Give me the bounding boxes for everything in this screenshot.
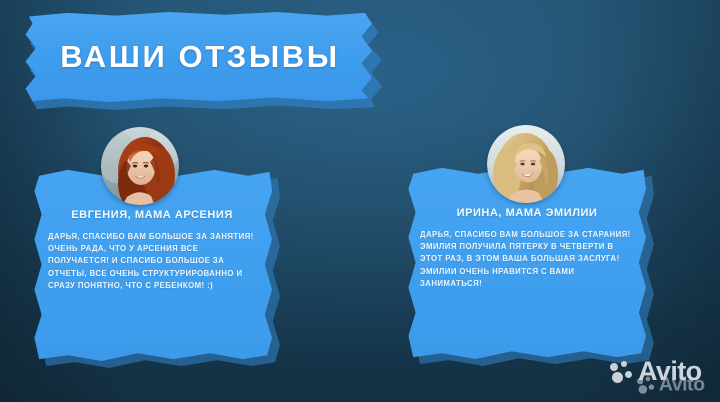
testimonial-text: ДАРЬЯ, СПАСИБО ВАМ БОЛЬШОЕ ЗА ЗАНЯТИЯ! О… bbox=[48, 231, 256, 292]
avito-watermark-secondary: Avito bbox=[637, 375, 705, 395]
testimonial-author: ЕВГЕНИЯ, МАМА АРСЕНИЯ bbox=[48, 208, 256, 222]
page-title: ВАШИ ОТЗЫВЫ bbox=[22, 12, 372, 102]
avito-wordmark: Avito bbox=[659, 375, 705, 395]
testimonials-slide: ВАШИ ОТЗЫВЫ ЕВГЕНИЯ, МАМА АРСЕНИЯ ДАРЬЯ,… bbox=[0, 0, 720, 402]
avito-logo-icon bbox=[637, 376, 657, 393]
avatar-evgeniya bbox=[101, 127, 179, 205]
testimonial-author: ИРИНА, МАМА ЭМИЛИИ bbox=[420, 206, 634, 220]
testimonial-text: ДАРЬЯ, СПАСИБО ВАМ БОЛЬШОЕ ЗА СТАРАНИЯ! … bbox=[420, 229, 634, 290]
title-banner: ВАШИ ОТЗЫВЫ bbox=[22, 12, 382, 110]
avatar-irina bbox=[487, 125, 565, 203]
